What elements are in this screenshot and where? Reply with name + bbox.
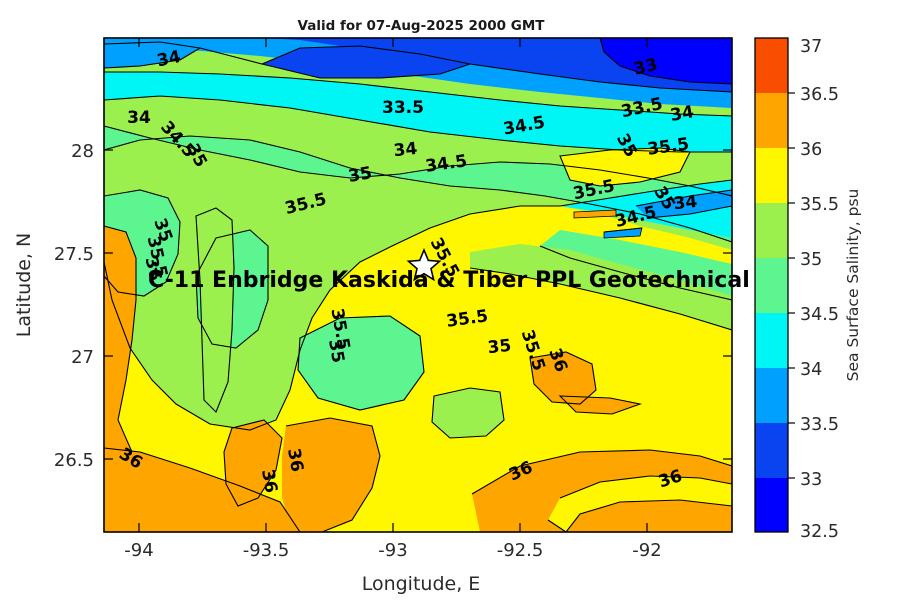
xtick-3: -92.5	[497, 540, 544, 561]
xtick-1: -93.5	[243, 540, 290, 561]
cbtick-9: 32.5	[800, 522, 839, 542]
contour-label: 34	[669, 102, 696, 126]
contour-label: 35	[347, 163, 374, 187]
salinity-contour-figure: Valid for 07-Aug-2025 2000 GMT	[0, 0, 900, 600]
cb-band-36-36.5	[755, 93, 788, 148]
y-axis-title: Latitude, N	[13, 233, 35, 338]
cb-band-35-35.5	[755, 203, 788, 258]
ytick-1: 27.5	[54, 244, 94, 265]
xtick-4: -92	[632, 540, 661, 561]
cbtick-0: 37	[800, 37, 822, 57]
contour-label: 36	[257, 468, 281, 495]
cbtick-2: 36	[800, 140, 822, 160]
cbtick-7: 33.5	[800, 415, 839, 435]
cb-band-35.5-36	[755, 148, 788, 203]
contour-label: 36	[283, 447, 307, 474]
contour-label: 34	[127, 108, 151, 128]
cbtick-5: 34.5	[800, 305, 839, 325]
cb-band-32.5-33	[755, 478, 788, 532]
ytick-0: 28	[71, 141, 94, 162]
contour-label: 34	[673, 192, 699, 214]
contour-label: 35	[487, 336, 513, 358]
cbtick-3: 35.5	[800, 195, 839, 215]
site-overlay-label: C-11 Enbridge Kaskida & Tiber PPL Geotec…	[148, 268, 750, 293]
cb-band-33-33.5	[755, 423, 788, 478]
ytick-2: 27	[71, 347, 94, 368]
cb-band-34-34.5	[755, 313, 788, 368]
contour-label: 34	[393, 139, 419, 161]
x-axis-title: Longitude, E	[362, 573, 481, 595]
colorbar-title: Sea Surface Salinity, psu	[844, 189, 862, 382]
xtick-0: -94	[124, 540, 153, 561]
chart-title: Valid for 07-Aug-2025 2000 GMT	[298, 18, 546, 34]
cbtick-4: 35	[800, 250, 822, 270]
cbtick-6: 34	[800, 360, 822, 380]
xtick-2: -93	[378, 540, 407, 561]
contour-label: 35	[324, 338, 348, 365]
cb-band-34.5-35	[755, 258, 788, 313]
ytick-3: 26.5	[54, 450, 94, 471]
contour-label: 33.5	[382, 98, 424, 118]
cb-band-33.5-34	[755, 368, 788, 423]
cb-band-36.5-37	[755, 38, 788, 93]
cbtick-1: 36.5	[800, 85, 839, 105]
cbtick-8: 33	[800, 470, 822, 490]
